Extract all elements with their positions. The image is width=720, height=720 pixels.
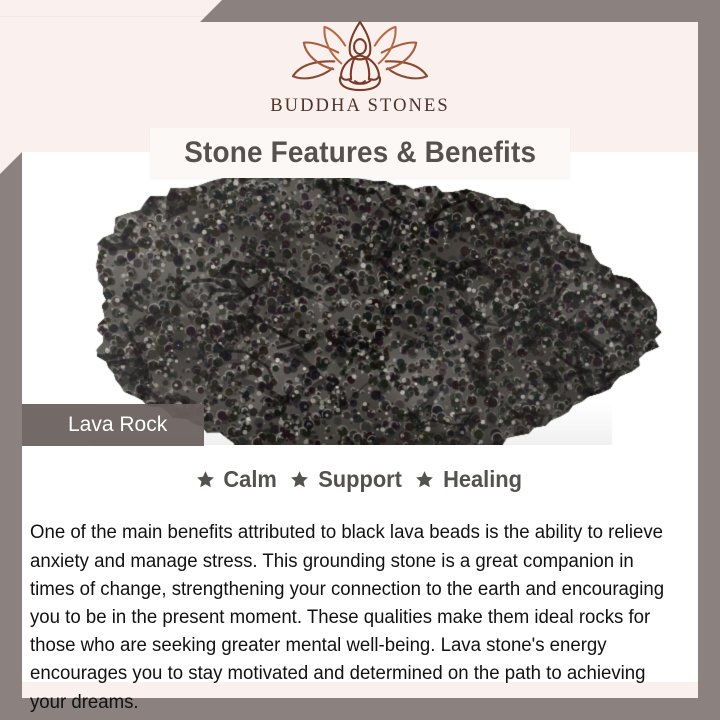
lotus-meditating-figure-icon xyxy=(275,18,445,92)
infographic-root: BUDDHA STONES Stone Features & Benefits … xyxy=(0,0,720,720)
star-icon xyxy=(415,470,434,489)
description-paragraph: One of the main benefits attributed to b… xyxy=(30,519,675,716)
keyword-label: Calm xyxy=(224,466,277,493)
stone-name-badge: Lava Rock xyxy=(22,404,204,446)
stone-name-label: Lava Rock xyxy=(22,413,167,437)
frame-left xyxy=(0,152,22,720)
keyword-list: Calm Support Healing xyxy=(22,466,698,493)
brand-name: BUDDHA STONES xyxy=(0,96,720,117)
star-icon xyxy=(196,470,215,489)
keyword-label: Support xyxy=(318,466,402,493)
keyword-item-calm: Calm xyxy=(196,466,278,493)
keyword-item-healing: Healing xyxy=(415,466,524,493)
keyword-item-support: Support xyxy=(290,466,404,493)
keyword-label: Healing xyxy=(443,466,522,493)
star-icon xyxy=(290,470,309,489)
page-title-banner: Stone Features & Benefits xyxy=(150,128,570,178)
brand-block: BUDDHA STONES xyxy=(0,18,720,117)
page-title: Stone Features & Benefits xyxy=(184,136,536,170)
